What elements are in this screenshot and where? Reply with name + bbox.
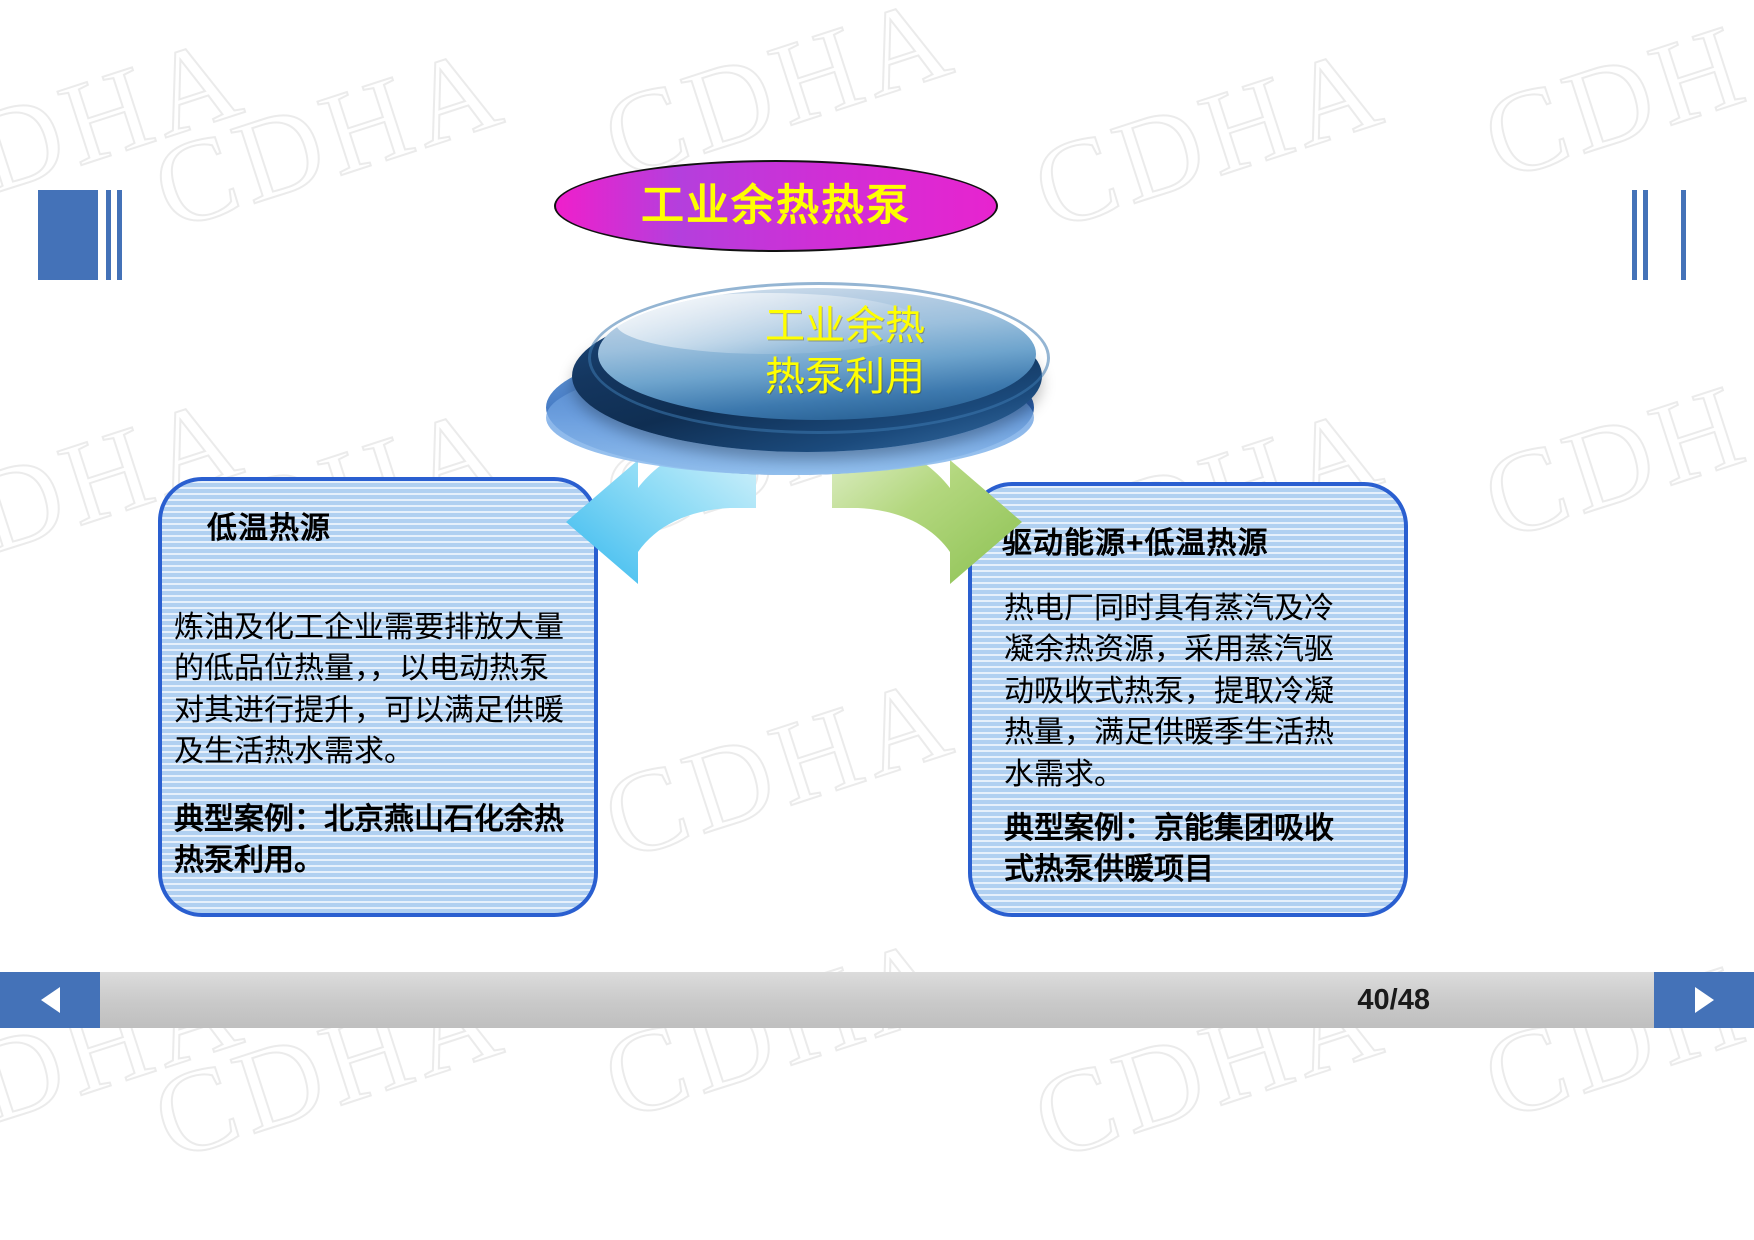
corner-line-icon: [1643, 190, 1648, 280]
corner-line-icon: [106, 190, 111, 280]
corner-decoration-left: [38, 190, 130, 282]
corner-line-icon: [1681, 190, 1686, 280]
watermark-text: CDHA: [1468, 908, 1754, 1148]
left-box-body: 炼油及化工企业需要排放大量 的低品位热量，，以电动热泵 对其进行提升，可以满足供…: [174, 607, 624, 773]
title-banner-text: 工业余热热泵: [641, 185, 911, 228]
corner-line-icon: [117, 190, 122, 280]
page-indicator: 40/48: [1357, 984, 1430, 1017]
watermark-text: CDHA: [1468, 328, 1754, 568]
triangle-right-icon: [1695, 987, 1714, 1013]
center-disc-label: 工业余热 热泵利用: [650, 300, 1040, 402]
previous-slide-button[interactable]: [0, 972, 100, 1028]
watermark-text: CDHA: [588, 908, 971, 1148]
right-box-example: 典型案例：京能集团吸收 式热泵供暖项目: [1004, 808, 1404, 891]
right-box-body: 热电厂同时具有蒸汽及冷 凝余热资源，采用蒸汽驱 动吸收式热泵，提取冷凝 热量，满…: [1004, 588, 1404, 795]
triangle-left-icon: [41, 987, 60, 1013]
low-temperature-source-box: 低温热源 炼油及化工企业需要排放大量 的低品位热量，，以电动热泵 对其进行提升，…: [158, 477, 598, 917]
slide-navigation-bar: 40/48: [0, 972, 1754, 1028]
center-disc: 工业余热 热泵利用: [540, 278, 1040, 478]
left-box-heading: 低温热源: [207, 503, 331, 547]
slide-canvas: CDHA CDHA CDHA CDHA CDHA CDHA CDHA CDHA …: [0, 0, 1754, 1240]
corner-line-icon: [1632, 190, 1637, 280]
watermark-text: CDHA: [138, 18, 521, 258]
watermark-text: CDHA: [1018, 18, 1401, 258]
watermark-text: CDHA: [588, 648, 971, 888]
corner-decoration-right: [1624, 190, 1716, 282]
left-box-example: 典型案例：北京燕山石化余热 热泵利用。: [174, 799, 624, 882]
corner-block-icon: [38, 190, 98, 280]
right-box-heading: 驱动能源+低温热源: [1002, 518, 1269, 562]
driving-energy-box: 驱动能源+低温热源 热电厂同时具有蒸汽及冷 凝余热资源，采用蒸汽驱 动吸收式热泵…: [968, 482, 1408, 917]
watermark-text: CDHA: [1468, 0, 1754, 208]
title-banner: 工业余热热泵: [554, 160, 998, 252]
next-slide-button[interactable]: [1654, 972, 1754, 1028]
navigation-track: 40/48: [100, 972, 1654, 1028]
